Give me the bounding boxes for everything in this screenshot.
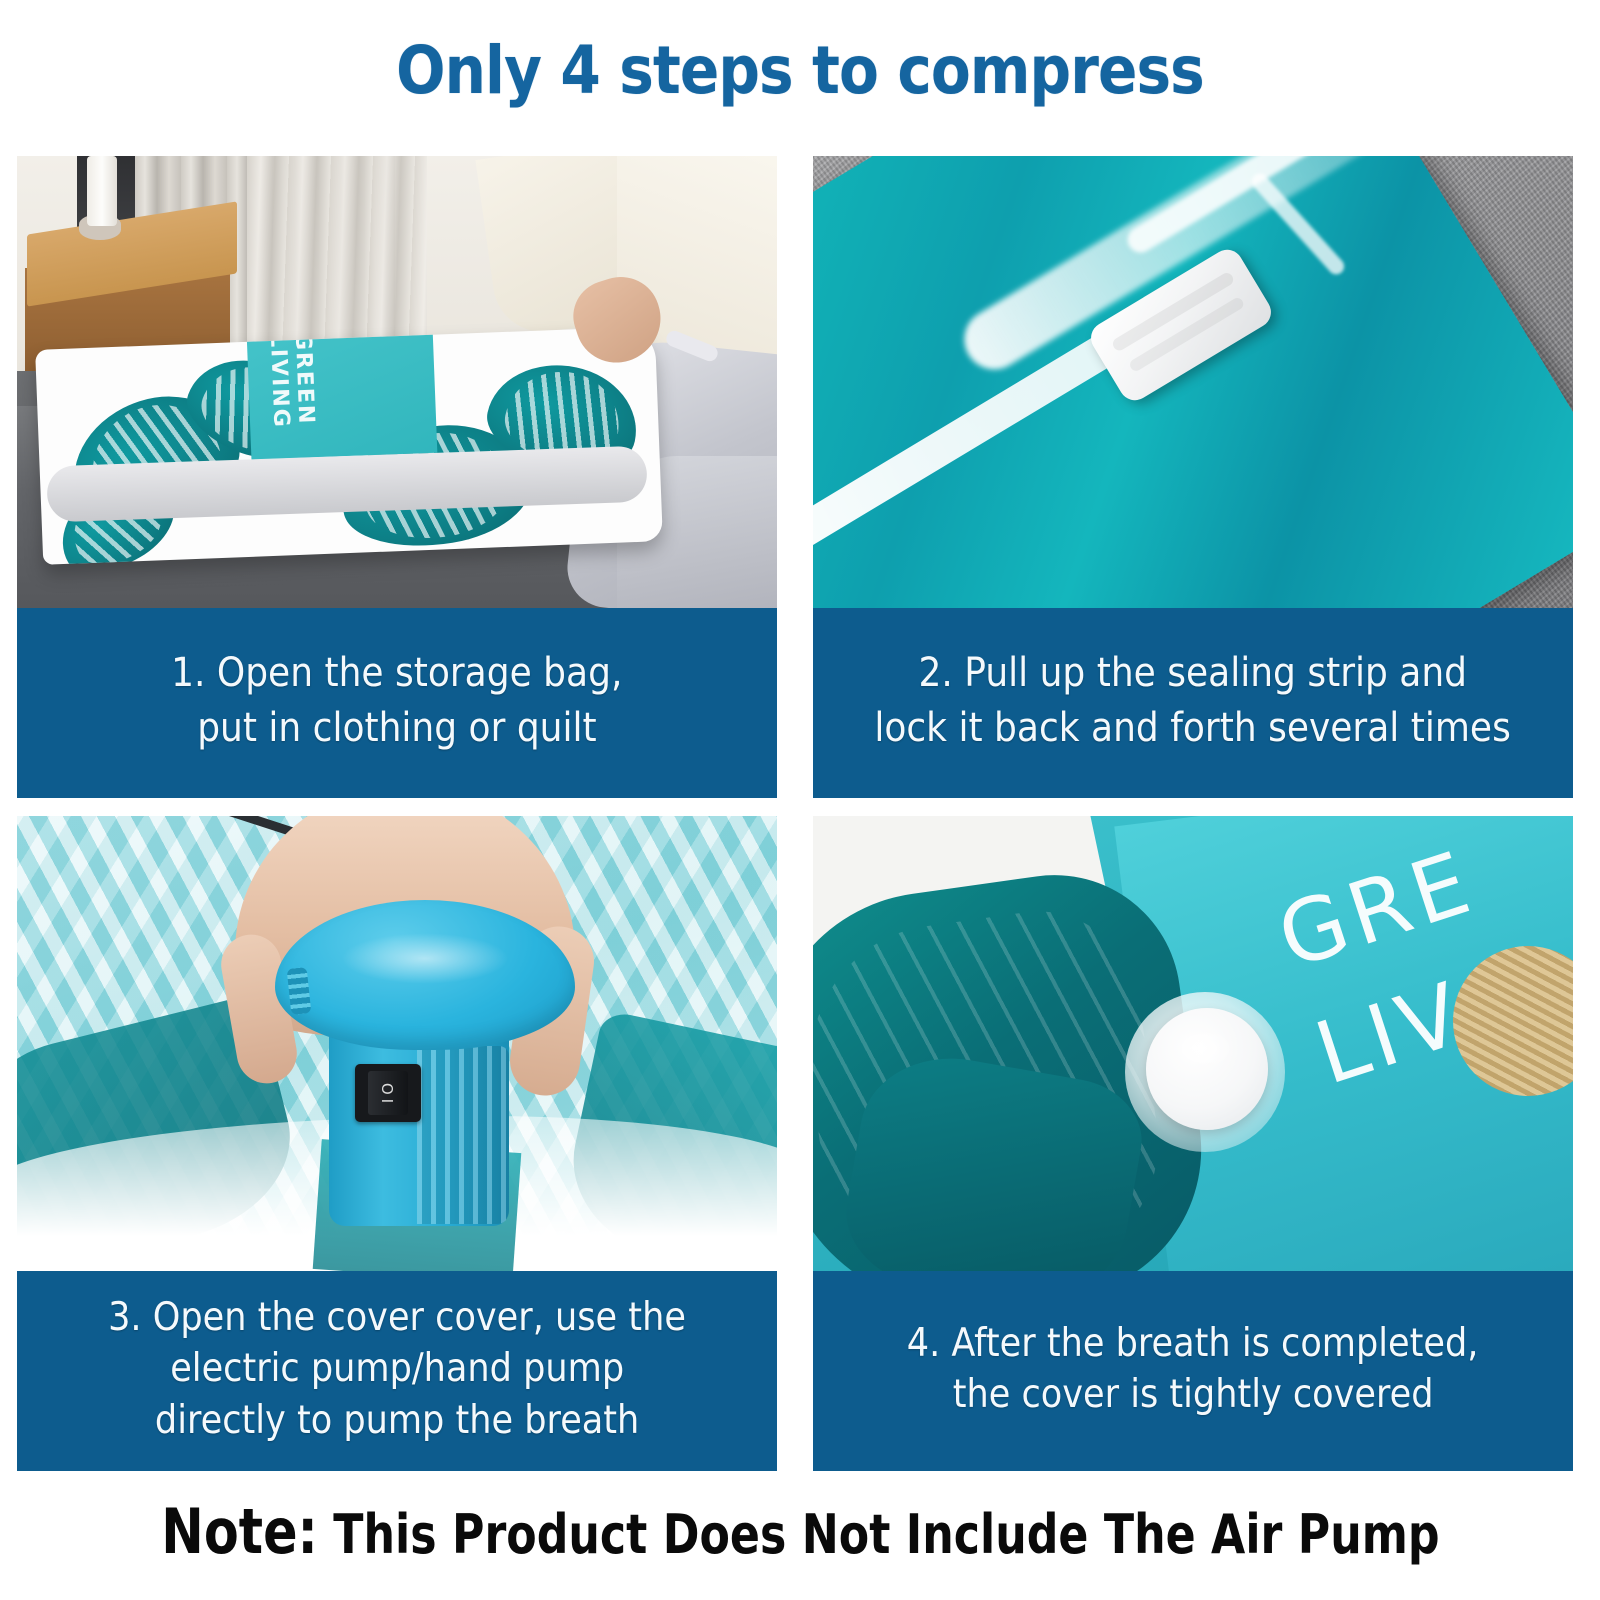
footer-note-body: This Product Does Not Include The Air Pu… [317, 1503, 1439, 1566]
step-3-caption-line-1: 3. Open the cover cover, use the [108, 1292, 686, 1343]
step-card-2: 2. Pull up the sealing strip and lock it… [813, 156, 1573, 816]
bag-brand-block: GREEN LIVING [247, 329, 438, 460]
step-2-caption-line-1: 2. Pull up the sealing strip and [919, 646, 1468, 701]
switch-on-label: I [379, 1099, 397, 1103]
step-2-caption-line-2: lock it back and forth several times [875, 701, 1511, 756]
storage-bag: GREEN LIVING [35, 326, 663, 565]
footer-note-bar: Note: This Product Does Not Include The … [0, 1462, 1600, 1600]
product-infographic: Only 4 steps to compress [0, 0, 1600, 1600]
step-1-caption-line-2: put in clothing or quilt [197, 701, 596, 756]
power-switch[interactable]: I O [355, 1064, 421, 1122]
step-4-photo: GRE LIV [813, 816, 1573, 1271]
lamp-shade [87, 156, 117, 226]
step-3-caption-line-3: directly to pump the breath [155, 1395, 639, 1446]
step-1-caption-line-1: 1. Open the storage bag, [171, 646, 622, 701]
electric-pump-ribs [417, 1046, 509, 1224]
step-1-photo: GREEN LIVING [17, 156, 777, 608]
step-4-caption: 4. After the breath is completed, the co… [813, 1271, 1573, 1471]
step-4-caption-line-2: the cover is tightly covered [953, 1369, 1434, 1420]
step-3-caption-line-2: electric pump/hand pump [170, 1343, 624, 1394]
page-title: Only 4 steps to compress [396, 32, 1204, 109]
step-3-caption: 3. Open the cover cover, use the electri… [17, 1271, 777, 1471]
step-card-3: I O 3. Open the cover cover, use the ele… [17, 816, 777, 1476]
footer-note: Note: This Product Does Not Include The … [161, 1495, 1439, 1568]
page-title-bar: Only 4 steps to compress [0, 0, 1600, 140]
valve-cap-icon [1146, 1008, 1268, 1130]
step-card-1: GREEN LIVING 1. Open the storage bag, pu… [17, 156, 777, 816]
step-2-caption: 2. Pull up the sealing strip and lock it… [813, 608, 1573, 798]
footer-note-lead: Note: [161, 1495, 318, 1568]
switch-off-label: O [379, 1083, 397, 1095]
step-3-photo: I O [17, 816, 777, 1271]
step-1-caption: 1. Open the storage bag, put in clothing… [17, 608, 777, 798]
steps-grid: GREEN LIVING 1. Open the storage bag, pu… [17, 156, 1573, 1460]
step-4-caption-line-1: 4. After the breath is completed, [907, 1318, 1479, 1369]
step-card-4: GRE LIV 4. After the breath is completed… [813, 816, 1573, 1476]
step-2-photo [813, 156, 1573, 608]
rocker-switch-icon[interactable]: I O [368, 1071, 408, 1115]
